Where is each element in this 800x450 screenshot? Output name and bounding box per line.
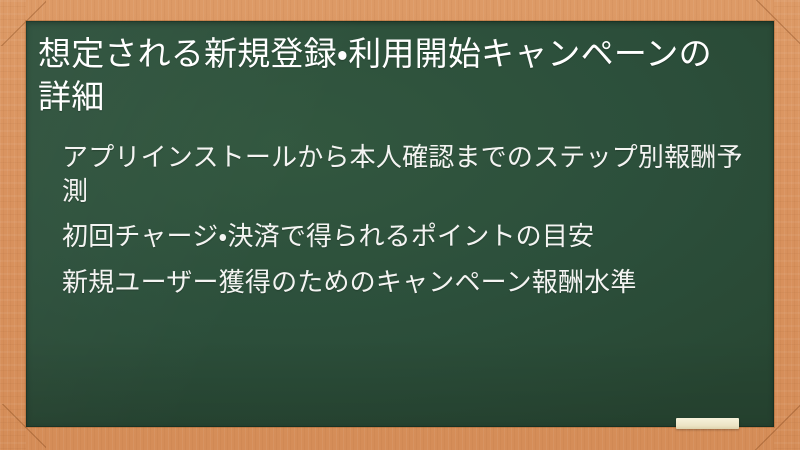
slide-content: 想定される新規登録・利用開始キャンペーンの詳細 アプリインストールから本人確認ま… [26,21,774,427]
frame-grain-right [774,0,800,450]
chalkboard-surface: 想定される新規登録・利用開始キャンペーンの詳細 アプリインストールから本人確認ま… [26,21,774,427]
chalkboard-slide: 想定される新規登録・利用開始キャンペーンの詳細 アプリインストールから本人確認ま… [0,0,800,450]
slide-title: 想定される新規登録・利用開始キャンペーンの詳細 [34,29,738,118]
slide-bullet-list: アプリインストールから本人確認までのステップ別報酬予測 初回チャージ・決済で得ら… [34,142,746,300]
list-item: アプリインストールから本人確認までのステップ別報酬予測 [62,142,746,209]
chalk-stick [676,418,739,429]
list-item: 初回チャージ・決済で得られるポイントの目安 [62,221,746,255]
list-item: 新規ユーザー獲得のためのキャンペーン報酬水準 [62,267,746,301]
frame-grain-left [0,0,26,450]
